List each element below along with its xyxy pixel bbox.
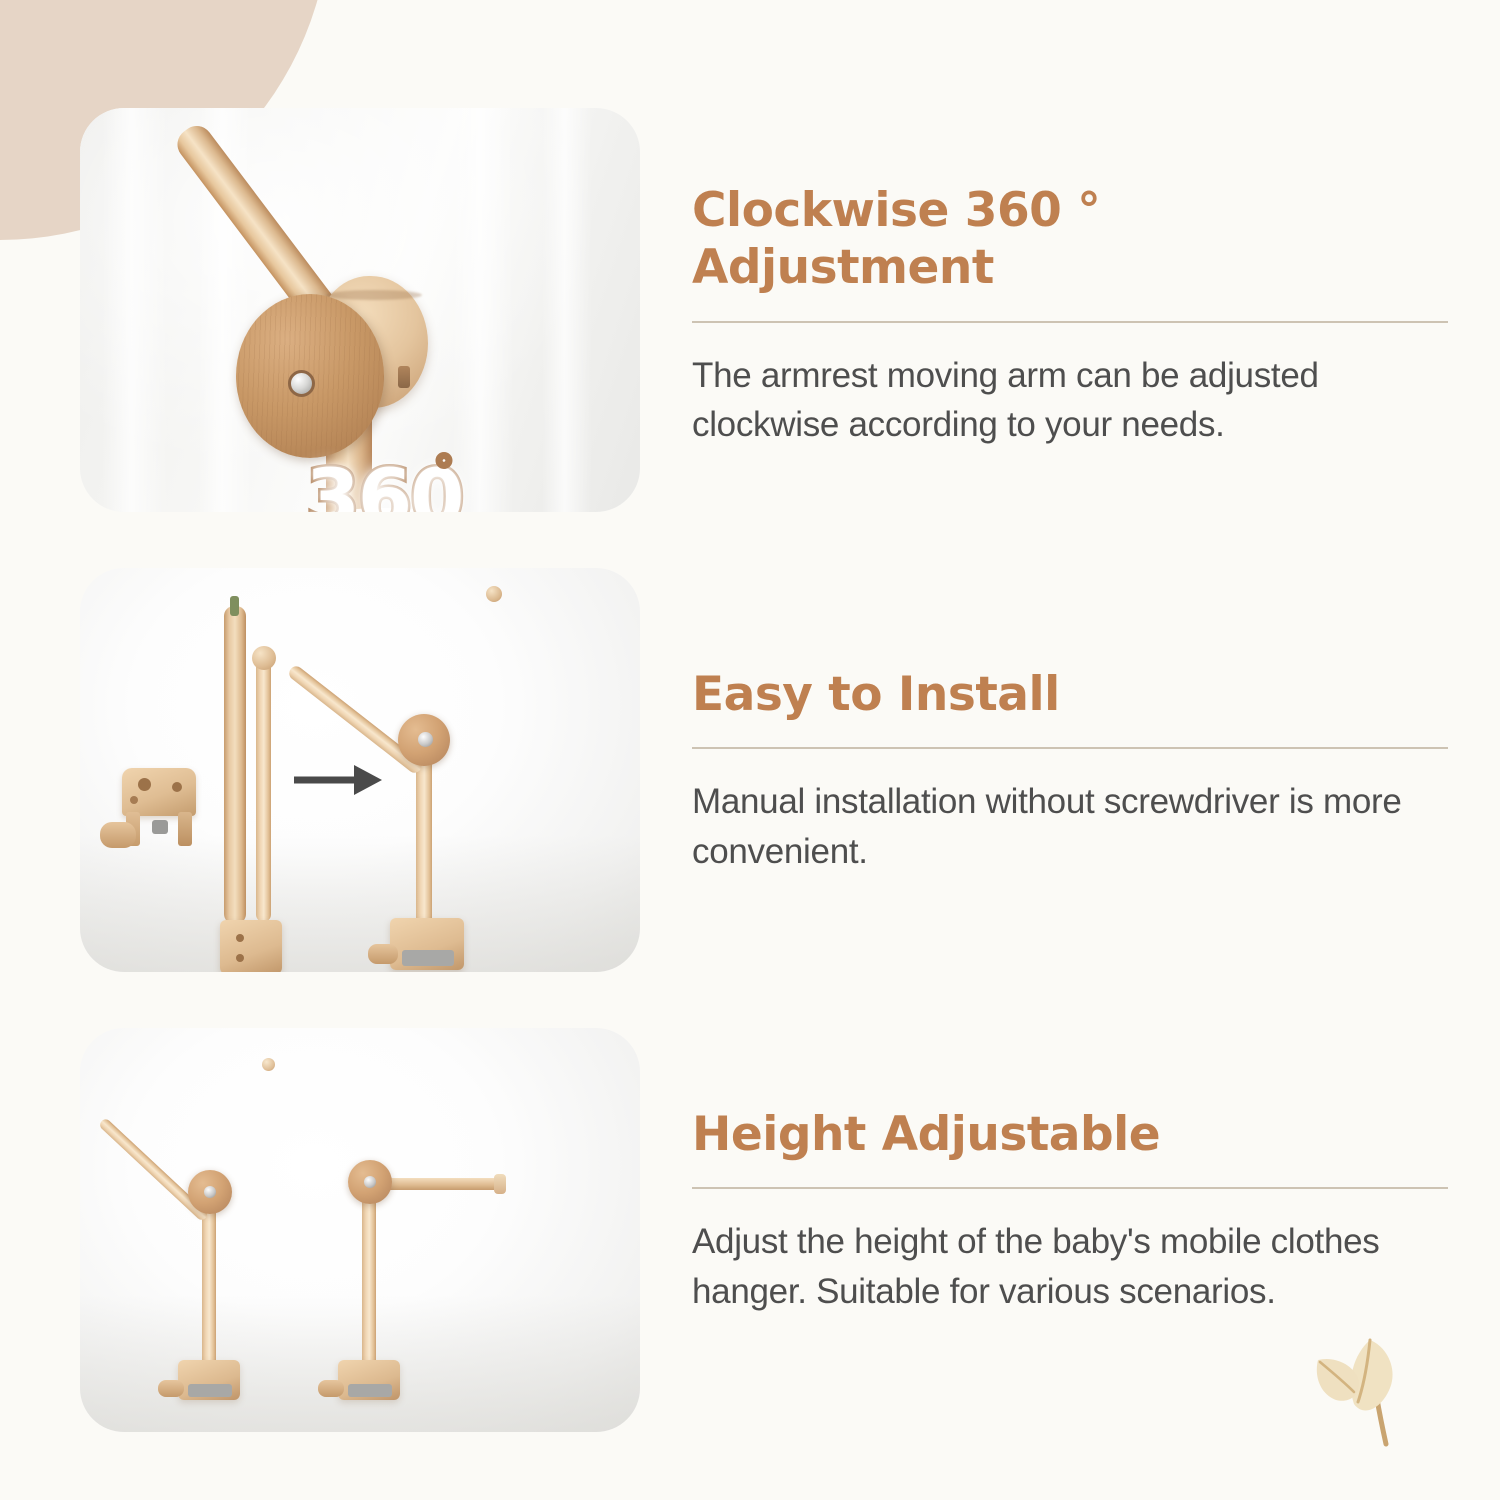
feature-image-height-comparison xyxy=(80,1028,640,1432)
pole-ball-tip xyxy=(252,646,276,670)
leaf-sprig-decoration xyxy=(1258,1258,1458,1472)
long-wood-pole xyxy=(224,606,246,924)
infographic-page: 360 ° Clockwise 360 ° Adjustment The arm… xyxy=(0,0,1500,1500)
process-arrow-icon xyxy=(294,762,388,803)
photo-floor-shadow xyxy=(80,835,640,972)
joint-collar-seam xyxy=(326,290,422,300)
feature-title: Clockwise 360 ° Adjustment xyxy=(692,182,1452,297)
feature-image-install-steps xyxy=(80,568,640,972)
feature-description: Manual installation without screwdriver … xyxy=(692,777,1452,876)
rotation-360-badge: 360 ° xyxy=(266,446,502,512)
pole-clamp xyxy=(220,920,282,972)
badge-360-label: 360 xyxy=(266,454,502,512)
clamp-hole xyxy=(236,934,244,942)
feature-row-360-adjustment: 360 ° Clockwise 360 ° Adjustment The arm… xyxy=(0,108,1500,512)
feature-title: Easy to Install xyxy=(692,666,1452,723)
title-divider xyxy=(692,747,1448,749)
feature-image-360-joint: 360 ° xyxy=(80,108,640,512)
short-wood-pole xyxy=(256,660,271,922)
curtain-streak xyxy=(102,108,168,512)
feature-description: The armrest moving arm can be adjusted c… xyxy=(692,351,1452,450)
clamp-hole xyxy=(236,954,244,962)
curtain-streak xyxy=(542,108,592,512)
feature-text-block: Easy to Install Manual installation with… xyxy=(692,568,1452,877)
feature-text-block: Clockwise 360 ° Adjustment The armrest m… xyxy=(692,108,1452,450)
joint-collar-slot xyxy=(398,366,410,388)
feature-title: Height Adjustable xyxy=(692,1106,1452,1163)
pole-tip xyxy=(230,596,239,616)
title-divider xyxy=(692,321,1448,323)
feature-row-easy-install: Easy to Install Manual installation with… xyxy=(0,568,1500,972)
metal-screw-icon xyxy=(288,370,315,397)
title-divider xyxy=(692,1187,1448,1189)
badge-degree-symbol: ° xyxy=(434,448,454,494)
